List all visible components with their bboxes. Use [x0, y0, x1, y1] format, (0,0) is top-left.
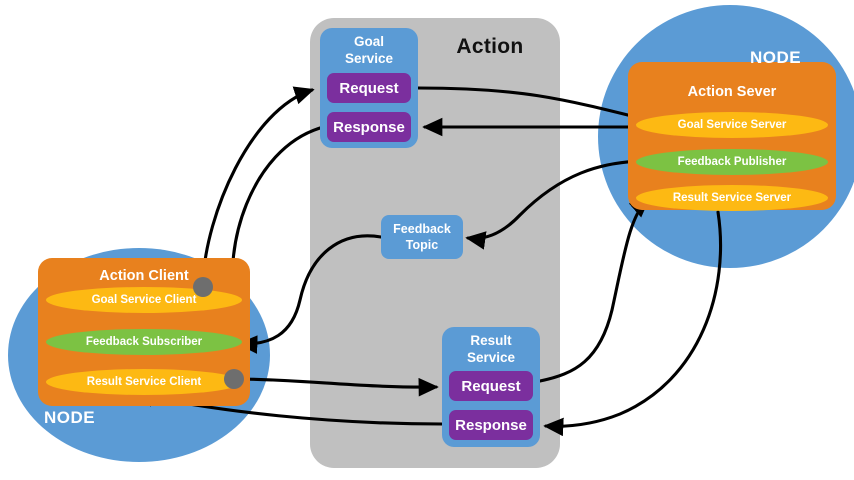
result-service-client-connector-dot [224, 369, 244, 389]
result-service-title-line1: Result [442, 332, 540, 349]
action-server-title: Action Sever [628, 80, 836, 104]
feedback-topic-line1: Feedback [381, 221, 463, 237]
goal-service-title-line2: Service [320, 50, 418, 67]
client-node-label: NODE [44, 408, 124, 430]
feedback-publisher-pill[interactable]: Feedback Publisher [636, 149, 828, 175]
arrow-result-server-to-response [546, 212, 721, 426]
goal-service-client-connector-dot [193, 277, 213, 297]
action-client-title: Action Client [38, 264, 250, 288]
goal-service-server-pill[interactable]: Goal Service Server [636, 112, 828, 138]
action-panel-title: Action [430, 32, 550, 62]
goal-service-request[interactable]: Request [327, 73, 411, 103]
result-service-server-pill[interactable]: Result Service Server [636, 185, 828, 211]
goal-service-title: Goal Service [320, 33, 418, 67]
feedback-topic-line2: Topic [381, 237, 463, 253]
goal-service-title-line1: Goal [320, 33, 418, 50]
arrow-goal-request-to-server [418, 88, 648, 120]
result-service-request[interactable]: Request [449, 371, 533, 401]
server-node-label: NODE [750, 48, 830, 70]
arrow-feedback-topic-to-subscriber [240, 236, 381, 344]
arrow-feedback-publisher-to-topic [468, 161, 648, 238]
arrow-result-request-to-server [540, 199, 648, 381]
arrow-goal-client-to-request [203, 90, 312, 281]
diagram-canvas: Action Action Client Goal Service Client… [0, 0, 854, 480]
result-service-title-line2: Service [442, 349, 540, 366]
goal-service-client-pill[interactable]: Goal Service Client [46, 287, 242, 313]
goal-service-response[interactable]: Response [327, 112, 411, 142]
feedback-topic-box[interactable]: Feedback Topic [381, 215, 463, 259]
feedback-subscriber-pill[interactable]: Feedback Subscriber [46, 329, 242, 355]
result-service-title: Result Service [442, 332, 540, 366]
arrow-result-client-to-request [236, 379, 436, 387]
result-service-response[interactable]: Response [449, 410, 533, 440]
result-service-client-pill[interactable]: Result Service Client [46, 369, 242, 395]
